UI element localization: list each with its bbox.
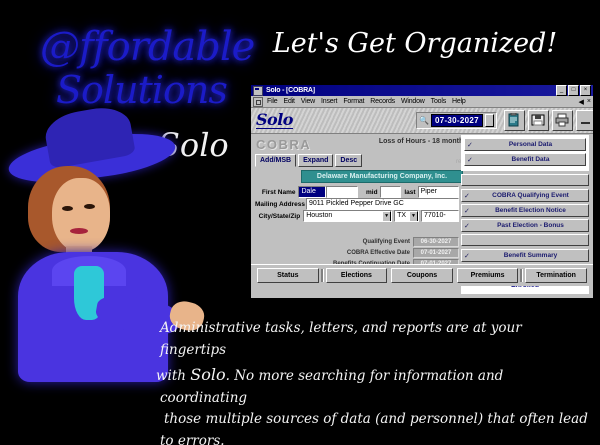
benefit-summary-item[interactable]: ✓ Benefit Summary — [461, 249, 589, 262]
cobra-qualifying-event-label: COBRA Qualifying Event — [475, 192, 586, 199]
tab-desc[interactable]: Desc — [335, 154, 362, 167]
maximize-button[interactable]: □ — [568, 85, 579, 96]
window-app-icon[interactable] — [253, 86, 263, 96]
bottom-tab-termination[interactable]: Termination — [525, 268, 587, 283]
mdi-close-icon[interactable]: × — [587, 98, 591, 105]
state-value: TX — [397, 212, 406, 219]
date-input[interactable]: 07-30-2027 — [431, 114, 483, 127]
employer-banner: Delaware Manufacturing Company, Inc. — [301, 170, 463, 183]
record-tabs: Add/MSB Expand Desc — [255, 154, 364, 167]
benefit-election-notice-item[interactable]: ✓ Benefit Election Notice — [461, 204, 589, 217]
caption-line-1: Administrative tasks, letters, and repor… — [160, 318, 592, 362]
city-value: Houston — [306, 212, 332, 219]
address-input[interactable]: 9011 Pickled Pepper Drive GC — [306, 198, 459, 210]
date-search-group[interactable]: 🔍 07-30-2027 — [416, 112, 497, 129]
window-title-bar[interactable]: Solo - [COBRA] _ □ × — [251, 85, 593, 96]
window-controls: _ □ × — [556, 85, 591, 96]
toolbar-buttons — [504, 110, 594, 131]
printer-icon[interactable] — [552, 110, 573, 131]
benefit-election-notice-label: Benefit Election Notice — [475, 207, 586, 214]
middle-name-label: mid — [361, 189, 378, 196]
document-icon[interactable] — [253, 97, 263, 107]
check-icon: ✓ — [467, 156, 478, 164]
caption-line-2: with Solo. No more searching for informa… — [160, 362, 592, 410]
check-icon: ✓ — [464, 252, 475, 260]
page-title: COBRA — [256, 137, 311, 152]
mdi-restore-icon[interactable]: ◀ — [579, 98, 584, 106]
state-dropdown-arrow[interactable]: ▼ — [409, 211, 418, 222]
minimize-icon[interactable] — [576, 110, 594, 131]
menu-item-tools[interactable]: Tools — [431, 98, 446, 105]
cobra-effective-date-value[interactable]: 07-01-2027 — [413, 248, 459, 258]
logo-line-solutions: Solutions — [56, 68, 227, 112]
tab-add-msb[interactable]: Add/MSB — [255, 154, 296, 167]
check-icon: ✓ — [464, 207, 475, 215]
personal-data-button[interactable]: ✓ Personal Data — [464, 138, 586, 151]
close-button[interactable]: × — [580, 85, 591, 96]
zip-input[interactable]: 77010- — [421, 210, 459, 222]
first-name-input-ext[interactable] — [326, 186, 357, 198]
data-buttons-group: ✓ Personal Data ✓ Benefit Data — [461, 135, 589, 171]
benefit-summary-label: Benefit Summary — [475, 252, 586, 259]
past-election-bonus-label: Past Election - Bonus — [475, 222, 586, 229]
toolbar-solo-logo: Solo — [256, 112, 293, 129]
magnifier-icon[interactable]: 🔍 — [419, 116, 429, 125]
state-input[interactable]: TX ▼ — [394, 210, 419, 222]
check-icon: ✓ — [464, 192, 475, 200]
caption-line-4: to errors. — [160, 431, 592, 445]
bottom-tab-elections[interactable]: Elections — [326, 268, 388, 283]
menu-bar: File Edit View Insert Format Records Win… — [251, 96, 593, 108]
menu-item-file[interactable]: File — [267, 98, 277, 105]
clipboard-icon[interactable] — [504, 110, 525, 131]
menu-item-help[interactable]: Help — [452, 98, 466, 105]
last-name-input[interactable]: Piper — [418, 186, 459, 198]
bottom-tab-coupons[interactable]: Coupons — [391, 268, 453, 283]
poster-canvas: @ffordable Solutions Solo Let's Get Orga… — [0, 0, 600, 445]
mascot-lips — [70, 228, 88, 234]
caption-with: with — [156, 368, 190, 384]
poster-caption: Administrative tasks, letters, and repor… — [160, 318, 592, 445]
qualifying-event-value[interactable]: 06-30-2027 — [413, 237, 459, 247]
window-client-area: COBRA Loss of Hours - 18 months Add/MSB … — [251, 134, 593, 286]
city-state-zip-label: City/State/Zip — [255, 213, 300, 220]
address-label: Mailing Address — [255, 201, 303, 208]
last-name-label: last — [404, 189, 416, 196]
address-row: Mailing Address 9011 Pickled Pepper Driv… — [255, 198, 459, 210]
window-title-text: Solo - [COBRA] — [266, 87, 556, 94]
date-summary-row: Qualifying Event 06-30-2027 — [329, 237, 459, 247]
benefit-data-label: Benefit Data — [478, 156, 583, 163]
caption-solo: Solo — [190, 365, 225, 384]
panel-blank-button-2[interactable] — [461, 234, 589, 246]
menu-item-records[interactable]: Records — [370, 98, 395, 105]
check-icon: ✓ — [467, 141, 478, 149]
bottom-tab-status[interactable]: Status — [257, 268, 319, 283]
bottom-tab-bar: Status Elections Coupons Premiums Termin… — [251, 264, 593, 286]
middle-name-input[interactable] — [380, 186, 401, 198]
benefit-data-button[interactable]: ✓ Benefit Data — [464, 153, 586, 166]
menu-item-insert[interactable]: Insert — [321, 98, 337, 105]
cobra-effective-date-label: COBRA Effective Date — [347, 250, 410, 256]
personal-data-label: Personal Data — [478, 141, 583, 148]
divider — [321, 269, 324, 282]
past-election-bonus-item[interactable]: ✓ Past Election - Bonus — [461, 219, 589, 232]
mascot-eye-left — [62, 206, 73, 211]
first-name-label: First Name — [255, 189, 295, 196]
menu-item-window[interactable]: Window — [401, 98, 425, 105]
qualifying-event-label: Qualifying Event — [363, 239, 410, 245]
date-spinner[interactable] — [485, 114, 494, 127]
cobra-qualifying-event-item[interactable]: ✓ COBRA Qualifying Event — [461, 189, 589, 202]
first-name-input[interactable]: Dale — [298, 186, 326, 198]
menu-item-format[interactable]: Format — [343, 98, 364, 105]
bottom-tab-premiums[interactable]: Premiums — [457, 268, 519, 283]
panel-blank-button[interactable] — [461, 174, 589, 186]
logo-line-affordable: @ffordable — [40, 24, 254, 70]
tab-expand[interactable]: Expand — [298, 154, 333, 167]
divider — [520, 269, 523, 282]
solo-application-window: Solo - [COBRA] _ □ × File Edit View Inse… — [250, 84, 594, 299]
name-row: First Name Dale mid last Piper — [255, 186, 459, 198]
check-icon: ✓ — [464, 222, 475, 230]
minimize-button[interactable]: _ — [556, 85, 567, 96]
caption-line-3: those multiple sources of data (and pers… — [160, 409, 592, 431]
city-input[interactable]: Houston ▼ — [303, 210, 392, 222]
mascot-eye-right — [84, 204, 95, 209]
menu-item-edit[interactable]: Edit — [283, 98, 294, 105]
save-icon[interactable] — [528, 110, 549, 131]
city-dropdown-arrow[interactable]: ▼ — [382, 211, 391, 222]
city-state-zip-row: City/State/Zip Houston ▼ TX ▼ 77010- — [255, 210, 459, 222]
poster-headline: Let's Get Organized! — [250, 28, 580, 59]
date-summary-row: COBRA Effective Date 07-01-2027 — [329, 248, 459, 258]
mascot-face — [52, 178, 110, 252]
menu-item-view[interactable]: View — [301, 98, 315, 105]
toolbar: Solo 🔍 07-30-2027 — [251, 108, 593, 134]
